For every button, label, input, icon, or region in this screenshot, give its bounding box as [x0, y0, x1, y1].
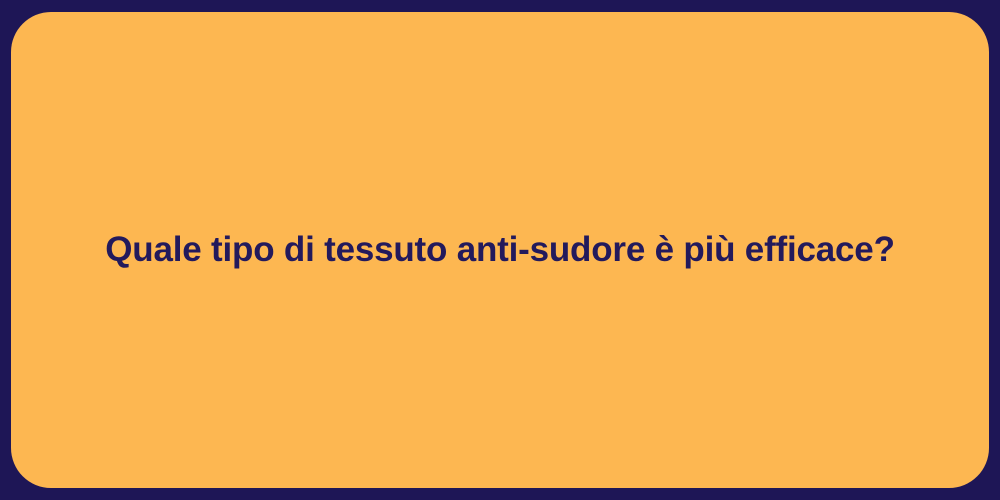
- question-card: Quale tipo di tessuto anti-sudore è più …: [11, 12, 989, 488]
- question-title: Quale tipo di tessuto anti-sudore è più …: [65, 228, 935, 272]
- page-background: Quale tipo di tessuto anti-sudore è più …: [0, 0, 1000, 500]
